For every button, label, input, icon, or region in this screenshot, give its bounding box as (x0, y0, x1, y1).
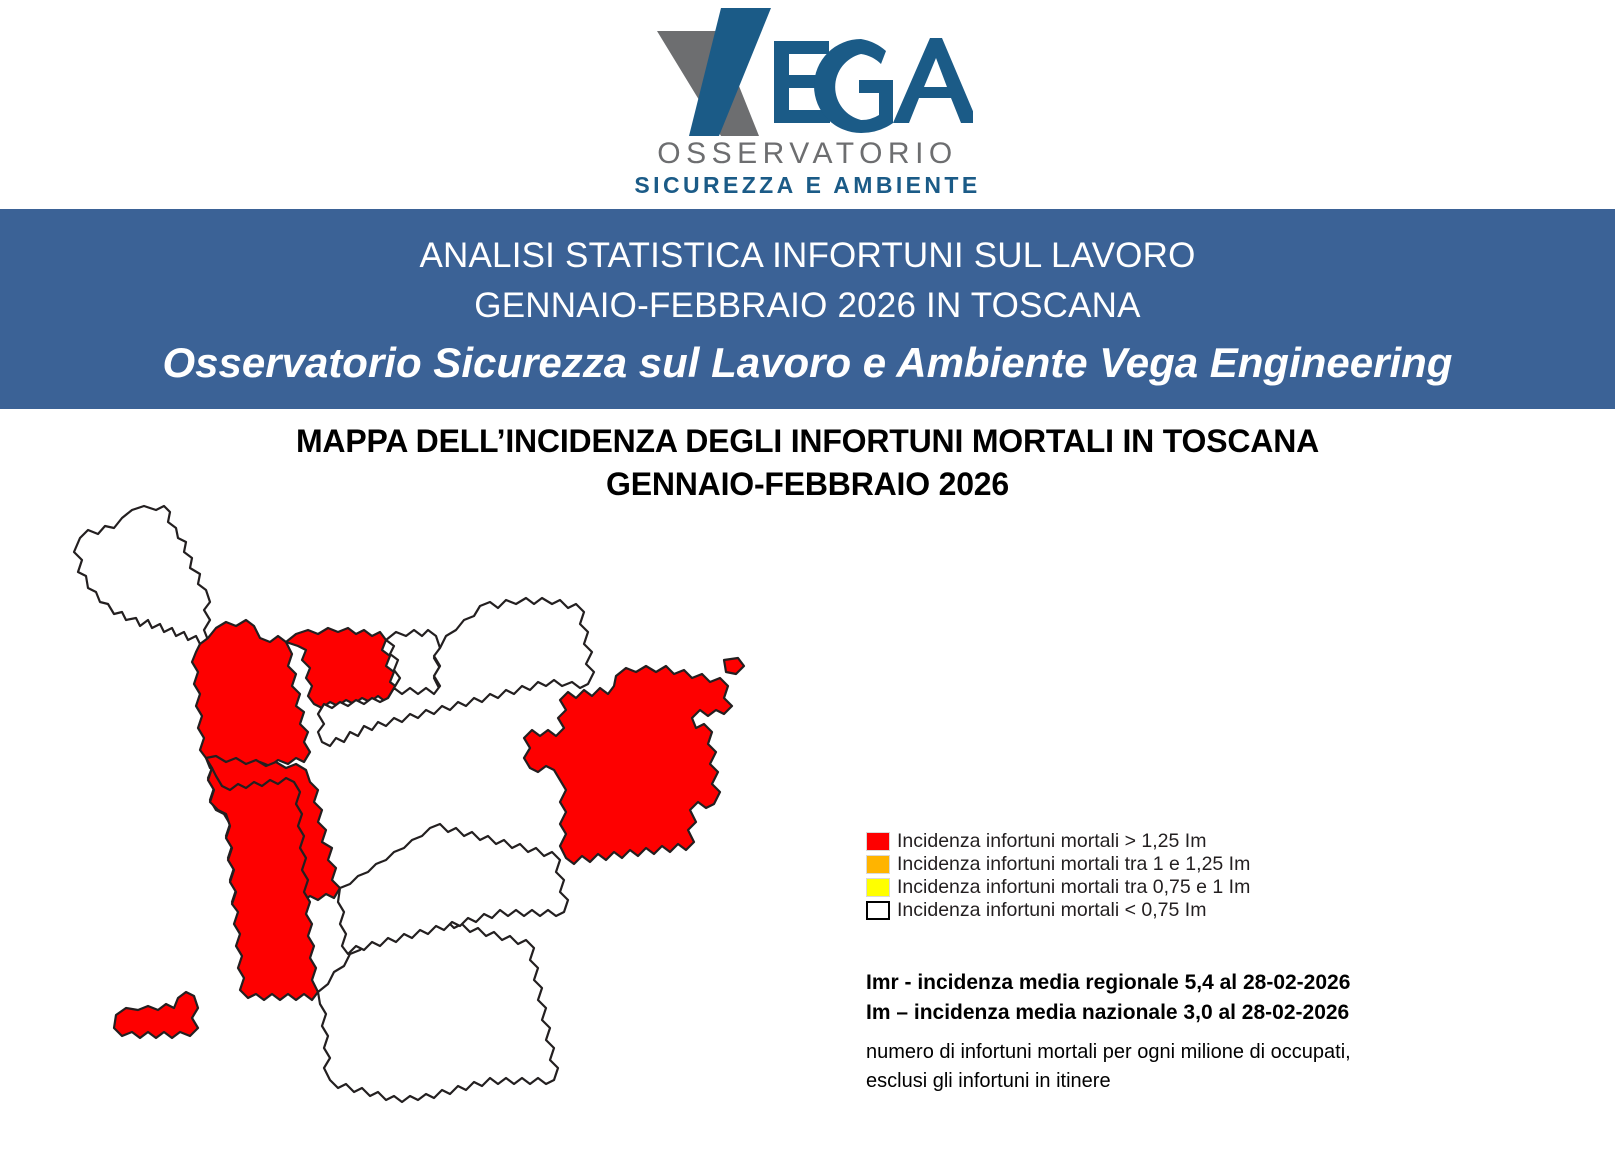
note-definition-line-1: numero di infortuni mortali per ogni mil… (866, 1038, 1566, 1067)
legend-label-yellow: Incidenza infortuni mortali tra 0,75 e 1… (897, 878, 1250, 898)
banner-line-1: ANALISI STATISTICA INFORTUNI SUL LAVORO (419, 231, 1195, 281)
legend-label-red: Incidenza infortuni mortali > 1,25 Im (897, 832, 1206, 852)
legend-label-white: Incidenza infortuni mortali < 0,75 Im (897, 901, 1206, 921)
legend-row-red[interactable]: Incidenza infortuni mortali > 1,25 Im (866, 830, 1346, 853)
province-massa-carrara[interactable] (74, 506, 210, 644)
legend-label-orange: Incidenza infortuni mortali tra 1 e 1,25… (897, 855, 1250, 875)
legend: Incidenza infortuni mortali > 1,25 Im In… (866, 830, 1346, 922)
province-arezzo-tip[interactable] (724, 658, 744, 674)
note-regional-average: Imr - incidenza media regionale 5,4 al 2… (866, 968, 1566, 998)
note-national-average: Im – incidenza media nazionale 3,0 al 28… (866, 998, 1566, 1028)
legend-row-yellow[interactable]: Incidenza infortuni mortali tra 0,75 e 1… (866, 876, 1346, 899)
header-banner: ANALISI STATISTICA INFORTUNI SUL LAVORO … (0, 209, 1615, 409)
page-title-line-1: MAPPA DELL’INCIDENZA DEGLI INFORTUNI MOR… (0, 420, 1615, 463)
province-arezzo[interactable] (524, 666, 732, 864)
logo-subtitle-sicurezza: SICUREZZA E AMBIENTE (634, 173, 980, 198)
banner-line-3: Osservatorio Sicurezza sul Lavoro e Ambi… (163, 336, 1453, 391)
legend-swatch-orange (866, 855, 890, 874)
notes-spacer (866, 1028, 1566, 1038)
vega-logo: OSSERVATORIO SICUREZZA E AMBIENTE (0, 8, 1615, 208)
province-pistoia[interactable] (286, 628, 398, 708)
poster-root: OSSERVATORIO SICUREZZA E AMBIENTE ANALIS… (0, 0, 1615, 1170)
vega-wordmark-icon (643, 8, 973, 136)
logo-subtitle-osservatorio: OSSERVATORIO (657, 138, 958, 170)
notes-block: Imr - incidenza media regionale 5,4 al 2… (866, 968, 1566, 1096)
note-definition-line-2: esclusi gli infortuni in itinere (866, 1067, 1566, 1096)
tuscany-choropleth-map (60, 480, 760, 1130)
legend-row-white[interactable]: Incidenza infortuni mortali < 0,75 Im (866, 899, 1346, 922)
legend-swatch-yellow (866, 878, 890, 897)
island-elba[interactable] (114, 992, 198, 1038)
legend-swatch-white (866, 901, 890, 920)
legend-swatch-red (866, 832, 890, 851)
banner-line-2: GENNAIO-FEBBRAIO 2026 IN TOSCANA (474, 281, 1140, 331)
legend-row-orange[interactable]: Incidenza infortuni mortali tra 1 e 1,25… (866, 853, 1346, 876)
